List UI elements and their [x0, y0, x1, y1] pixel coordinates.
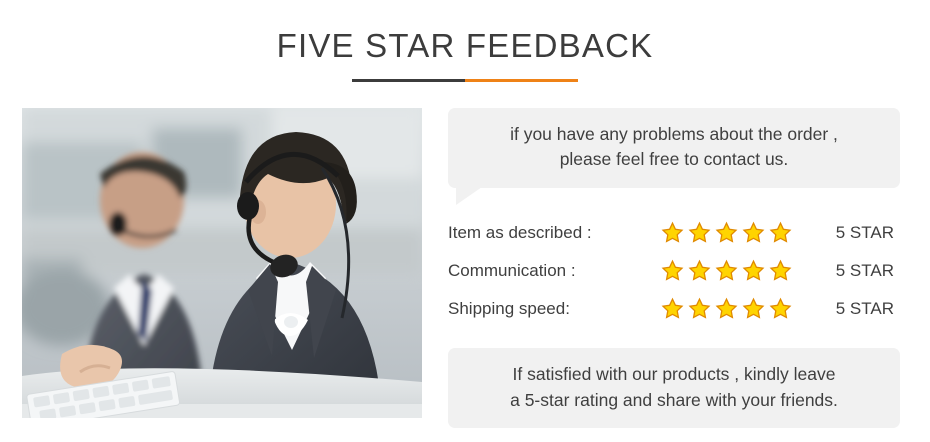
- star-icon: [714, 297, 739, 321]
- star-icon: [741, 221, 766, 245]
- bubble-tail: [456, 187, 482, 205]
- rating-value: 5 STAR: [800, 299, 900, 319]
- title-underline-orange-segment: [465, 79, 578, 82]
- star-icon: [660, 221, 685, 245]
- contact-message-line-2: please feel free to contact us.: [466, 147, 882, 172]
- rating-label: Shipping speed:: [448, 299, 660, 319]
- rating-stars: [660, 297, 800, 321]
- rating-label: Communication :: [448, 261, 660, 281]
- star-icon: [660, 297, 685, 321]
- star-icon: [768, 259, 793, 283]
- star-icon: [687, 221, 712, 245]
- call-center-photo: [22, 108, 422, 418]
- contact-message-line-1: if you have any problems about the order…: [466, 122, 882, 147]
- title-underline-dark-segment: [352, 79, 465, 82]
- rating-row: Communication : 5 STAR: [448, 252, 900, 290]
- star-icon: [741, 259, 766, 283]
- satisfaction-note-line-2: a 5-star rating and share with your frie…: [464, 387, 884, 413]
- star-icon: [768, 221, 793, 245]
- rating-value: 5 STAR: [800, 223, 900, 243]
- rating-stars: [660, 259, 800, 283]
- star-icon: [714, 221, 739, 245]
- contact-message-bubble: if you have any problems about the order…: [448, 108, 900, 188]
- call-center-photo-illustration: [22, 108, 422, 418]
- star-icon: [768, 297, 793, 321]
- feedback-content: if you have any problems about the order…: [448, 108, 900, 428]
- rating-label: Item as described :: [448, 223, 660, 243]
- title-underline: [352, 79, 578, 82]
- rating-value: 5 STAR: [800, 261, 900, 281]
- rating-row: Item as described : 5 STAR: [448, 214, 900, 252]
- star-icon: [687, 259, 712, 283]
- feedback-banner: FIVE STAR FEEDBACK: [0, 0, 930, 442]
- rating-row: Shipping speed: 5 STAR: [448, 290, 900, 328]
- page-title-wrap: FIVE STAR FEEDBACK: [0, 26, 930, 66]
- ratings-list: Item as described : 5 STAR Communication…: [448, 214, 900, 328]
- star-icon: [687, 297, 712, 321]
- star-icon: [741, 297, 766, 321]
- star-icon: [714, 259, 739, 283]
- page-title: FIVE STAR FEEDBACK: [0, 26, 930, 66]
- star-icon: [660, 259, 685, 283]
- rating-stars: [660, 221, 800, 245]
- satisfaction-note: If satisfied with our products , kindly …: [448, 348, 900, 428]
- satisfaction-note-line-1: If satisfied with our products , kindly …: [464, 361, 884, 387]
